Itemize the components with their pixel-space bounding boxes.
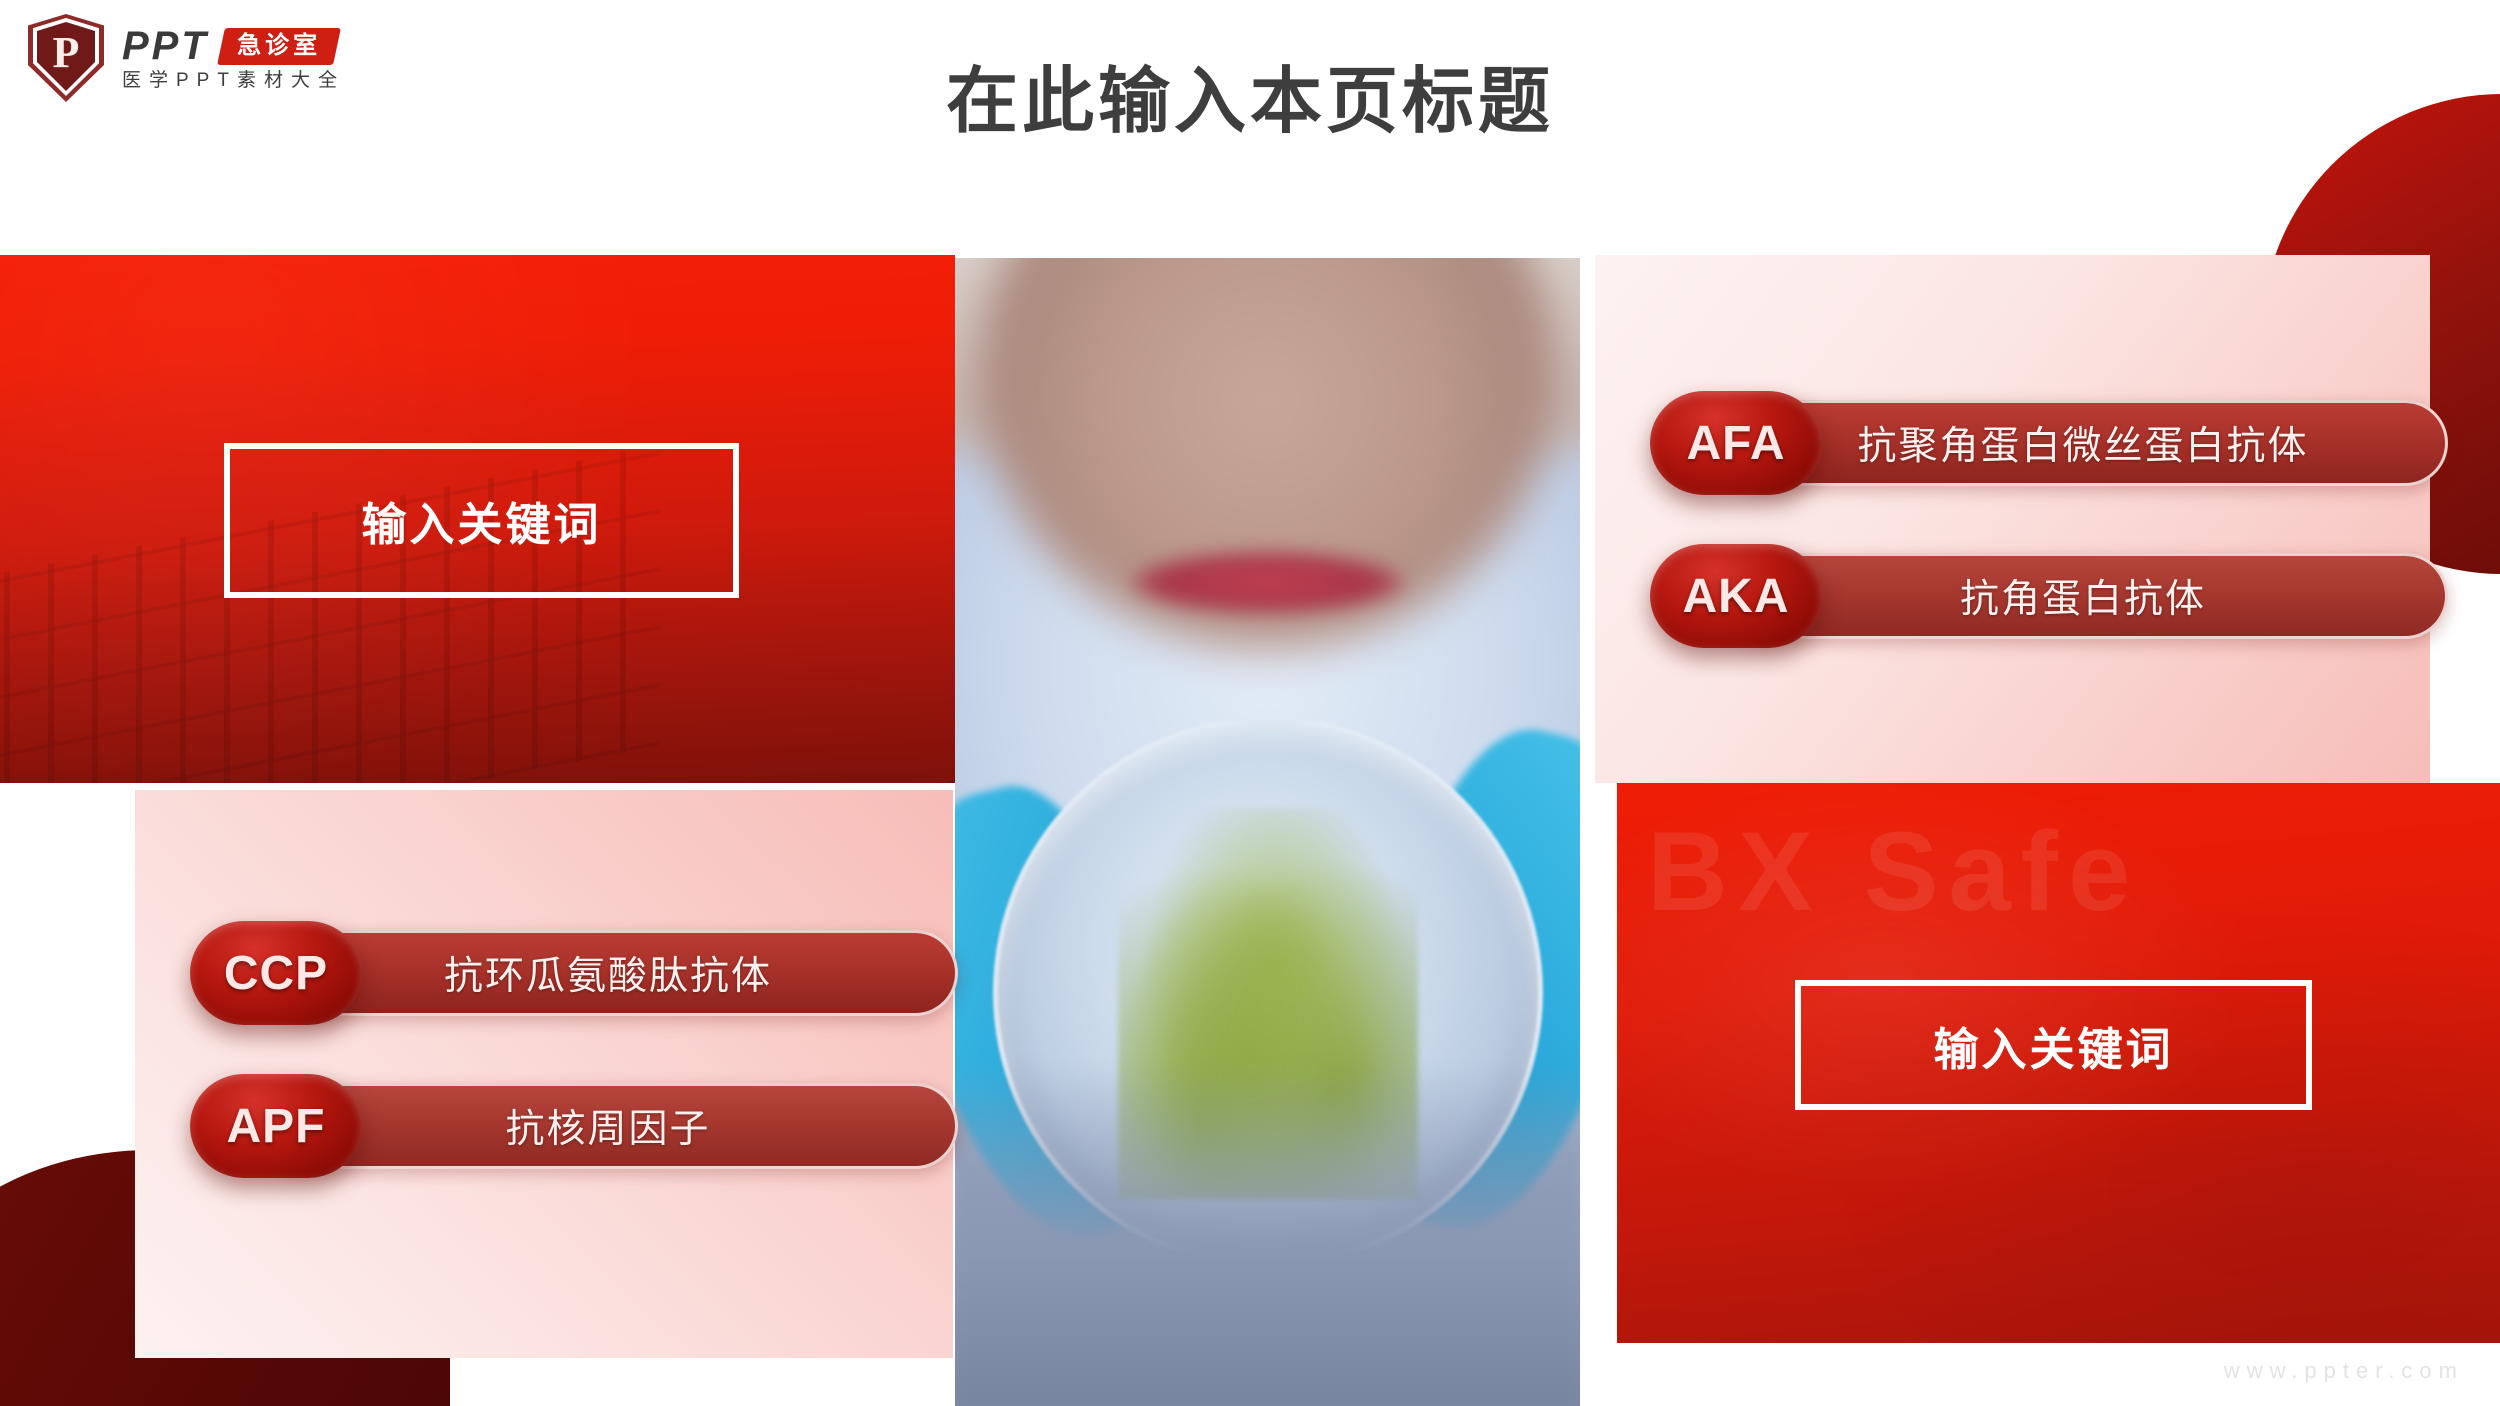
- page-title: 在此输入本页标题: [0, 42, 2500, 147]
- pill-tag: AFA: [1650, 391, 1822, 495]
- list-item-afa[interactable]: 抗聚角蛋白微丝蛋白抗体 AFA: [1650, 400, 2448, 486]
- pill-label: 抗核周因子: [505, 1098, 710, 1154]
- pill-tag-text: AFA: [1687, 416, 1786, 471]
- list-item-aka[interactable]: 抗角蛋白抗体 AKA: [1650, 553, 2448, 639]
- center-photo-scientist-petri-dish: [955, 258, 1580, 1406]
- pill-tag: CCP: [190, 921, 362, 1025]
- photo-bottom-fade: [955, 1062, 1580, 1406]
- panel-top-right-light: [1595, 255, 2430, 783]
- pill-tag: AKA: [1650, 544, 1822, 648]
- photo-lips: [1130, 551, 1405, 614]
- pill-tag: APF: [190, 1074, 362, 1178]
- pill-bar: 抗角蛋白抗体: [1718, 553, 2448, 639]
- keyword-box-top-left[interactable]: 输入关键词: [224, 443, 739, 598]
- keyword-box-label: 输入关键词: [1933, 1013, 2173, 1078]
- pill-bar: 抗核周因子: [258, 1083, 958, 1169]
- pill-bar: 抗环瓜氨酸肽抗体: [258, 930, 958, 1016]
- pill-label: 抗聚角蛋白微丝蛋白抗体: [1857, 415, 2308, 471]
- keyword-box-bottom-right[interactable]: 输入关键词: [1795, 980, 2312, 1110]
- list-item-ccp[interactable]: 抗环瓜氨酸肽抗体 CCP: [190, 930, 958, 1016]
- pill-label: 抗角蛋白抗体: [1960, 568, 2206, 624]
- list-item-apf[interactable]: 抗核周因子 APF: [190, 1083, 958, 1169]
- pill-bar: 抗聚角蛋白微丝蛋白抗体: [1718, 400, 2448, 486]
- pill-tag-text: CCP: [224, 946, 328, 1001]
- site-watermark: www.ppter.com: [2224, 1358, 2464, 1384]
- pill-tag-text: APF: [227, 1099, 326, 1154]
- slide-canvas: BX Safe P PPT 急诊室 医学PPT素材大全 在此输入: [0, 0, 2500, 1406]
- pill-tag-text: AKA: [1683, 569, 1790, 624]
- pill-label: 抗环瓜氨酸肽抗体: [444, 945, 772, 1001]
- keyword-box-label: 输入关键词: [361, 488, 601, 553]
